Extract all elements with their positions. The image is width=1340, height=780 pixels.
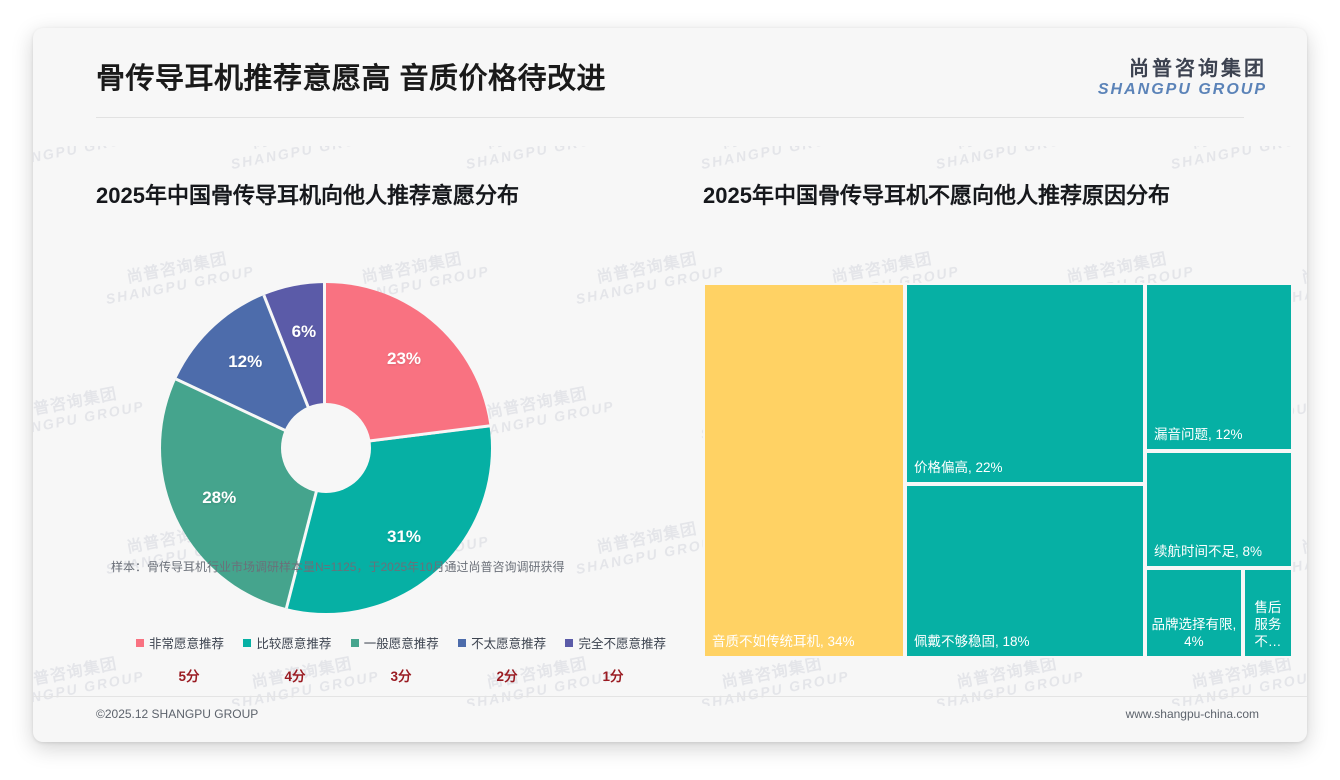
watermark-text: 尚普咨询集团SHANGPU GROUP	[33, 382, 146, 442]
legend-item[interactable]: 比较愿意推荐	[243, 633, 331, 652]
treemap-cell-label: 佩戴不够稳固, 18%	[914, 634, 1138, 651]
page-title: 骨传导耳机推荐意愿高 音质价格待改进	[96, 55, 606, 97]
logo-english-text: SHANGPU GROUP	[1098, 81, 1267, 99]
donut-center-hole	[281, 403, 371, 493]
header-divider	[96, 117, 1244, 118]
treemap-cell-label: 续航时间不足, 8%	[1154, 544, 1286, 561]
donut-slice-label: 31%	[387, 527, 421, 547]
treemap-cell[interactable]: 漏音问题, 12%	[1145, 283, 1293, 451]
legend-swatch-icon	[565, 639, 573, 647]
legend-item-label: 非常愿意推荐	[149, 633, 224, 652]
legend-item[interactable]: 完全不愿意推荐	[565, 633, 666, 652]
right-chart-panel: 2025年中国骨传导耳机不愿向他人推荐原因分布 音质不如传统耳机, 34%价格偏…	[703, 178, 1283, 210]
treemap-cell-label: 音质不如传统耳机, 34%	[712, 634, 898, 651]
donut-slice-label: 12%	[228, 352, 262, 372]
treemap-cell[interactable]: 续航时间不足, 8%	[1145, 451, 1293, 568]
donut-slice-label: 28%	[202, 488, 236, 508]
legend-item[interactable]: 非常愿意推荐	[136, 633, 224, 652]
watermark-text: 尚普咨询集团SHANGPU GROUP	[696, 146, 850, 172]
legend-swatch-icon	[136, 639, 144, 647]
score-label: 5分	[136, 665, 242, 685]
score-label-row: 5分4分3分2分1分	[136, 665, 666, 685]
watermark-text: 尚普咨询集团SHANGPU GROUP	[1166, 146, 1307, 172]
donut-slice-label: 23%	[387, 349, 421, 369]
watermark-text: 尚普咨询集团SHANGPU GROUP	[1166, 652, 1307, 706]
score-label: 4分	[242, 665, 348, 685]
treemap-cell[interactable]: 佩戴不够稳固, 18%	[905, 484, 1145, 658]
watermark-text: 尚普咨询集团SHANGPU GROUP	[696, 652, 850, 706]
legend-swatch-icon	[351, 639, 359, 647]
score-label: 2分	[454, 665, 560, 685]
treemap-cell[interactable]: 价格偏高, 22%	[905, 283, 1145, 484]
watermark-text: 尚普咨询集团SHANGPU GROUP	[931, 146, 1085, 172]
score-label: 1分	[560, 665, 666, 685]
treemap-cell-label: 品牌选择有限, 4%	[1151, 617, 1237, 651]
left-chart-panel: 2025年中国骨传导耳机向他人推荐意愿分布 23%31%28%12%6% 非常愿…	[96, 178, 676, 210]
legend-item-label: 完全不愿意推荐	[578, 633, 666, 652]
legend-item-label: 一般愿意推荐	[364, 633, 439, 652]
watermark-text: 尚普咨询集团SHANGPU GROUP	[33, 146, 146, 172]
footer-copyright: ©2025.12 SHANGPU GROUP	[96, 707, 258, 721]
left-chart-title: 2025年中国骨传导耳机向他人推荐意愿分布	[96, 178, 676, 210]
donut-legend: 非常愿意推荐比较愿意推荐一般愿意推荐不太愿意推荐完全不愿意推荐	[136, 633, 666, 652]
slide-card: 尚普咨询集团SHANGPU GROUP尚普咨询集团SHANGPU GROUP尚普…	[33, 28, 1307, 742]
legend-item-label: 比较愿意推荐	[256, 633, 331, 652]
legend-item[interactable]: 一般愿意推荐	[351, 633, 439, 652]
watermark-text: 尚普咨询集团SHANGPU GROUP	[33, 652, 146, 706]
watermark-text: 尚普咨询集团SHANGPU GROUP	[226, 146, 380, 172]
footer-divider	[33, 696, 1307, 697]
legend-swatch-icon	[243, 639, 251, 647]
treemap-cell-label: 价格偏高, 22%	[914, 460, 1138, 477]
footer-website: www.shangpu-china.com	[1126, 707, 1259, 721]
legend-swatch-icon	[458, 639, 466, 647]
treemap-cell[interactable]: 售后服务不…	[1243, 568, 1293, 658]
watermark-text: 尚普咨询集团SHANGPU GROUP	[931, 652, 1085, 706]
treemap-cell[interactable]: 音质不如传统耳机, 34%	[703, 283, 905, 658]
brand-logo: 尚普咨询集团 SHANGPU GROUP	[1098, 58, 1267, 99]
treemap-chart: 音质不如传统耳机, 34%价格偏高, 22%佩戴不够稳固, 18%漏音问题, 1…	[703, 283, 1293, 658]
legend-item-label: 不太愿意推荐	[471, 633, 546, 652]
score-label: 3分	[348, 665, 454, 685]
sample-footnote: 样本：骨传导耳机行业市场调研样本量N=1125，于2025年10月通过尚普咨询调…	[111, 558, 565, 575]
legend-item[interactable]: 不太愿意推荐	[458, 633, 546, 652]
right-chart-title: 2025年中国骨传导耳机不愿向他人推荐原因分布	[703, 178, 1283, 210]
slide-header: 骨传导耳机推荐意愿高 音质价格待改进 尚普咨询集团 SHANGPU GROUP	[33, 28, 1307, 118]
treemap-cell[interactable]: 品牌选择有限, 4%	[1145, 568, 1243, 658]
watermark-text: 尚普咨询集团SHANGPU GROUP	[461, 146, 615, 172]
treemap-cell-label: 售后服务不…	[1249, 600, 1287, 651]
logo-chinese-text: 尚普咨询集团	[1098, 58, 1267, 81]
donut-slice-label: 6%	[292, 322, 317, 342]
treemap-cell-label: 漏音问题, 12%	[1154, 427, 1286, 444]
